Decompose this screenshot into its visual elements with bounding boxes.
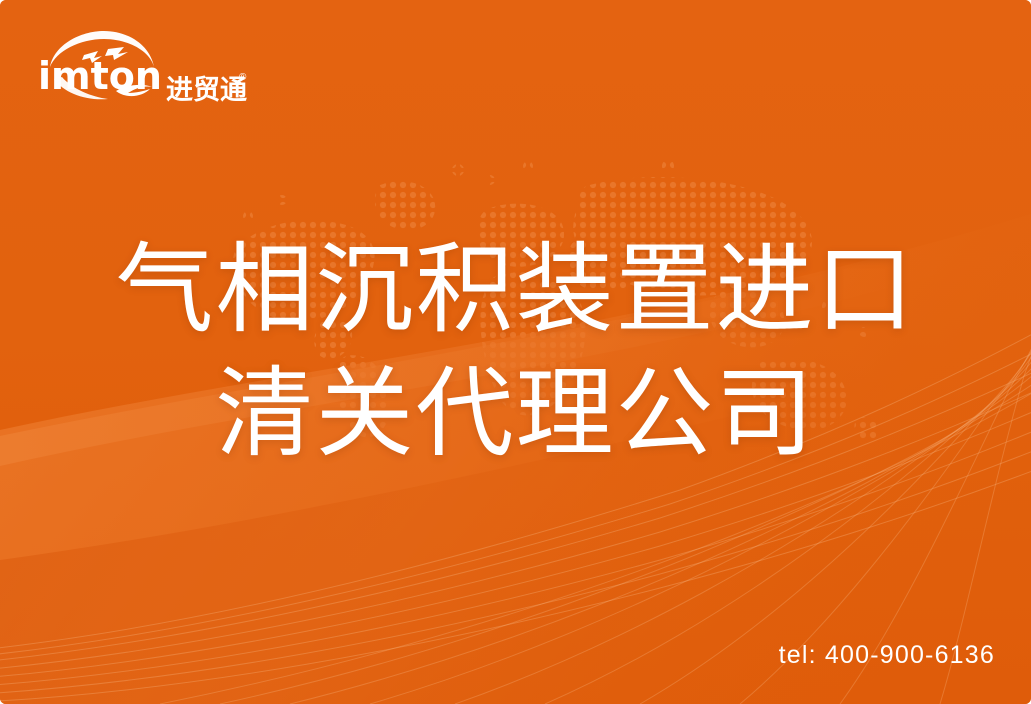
page-title-line-2: 清关代理公司	[0, 352, 1031, 476]
page-title-line-1: 气相沉积装置进口	[0, 228, 1031, 352]
brand-logo[interactable]: imton 进贸通 ®	[38, 27, 213, 101]
logo-wordmark: imton	[38, 54, 162, 98]
logo-chinese-name: 进贸通	[166, 77, 247, 104]
poster-canvas: imton 进贸通 ® 气相沉积装置进口 清关代理公司 tel: 400-900…	[0, 0, 1031, 704]
contact-phone[interactable]: tel: 400-900-6136	[779, 643, 995, 668]
page-title: 气相沉积装置进口 清关代理公司	[0, 228, 1031, 476]
registered-trademark-icon: ®	[239, 73, 246, 83]
